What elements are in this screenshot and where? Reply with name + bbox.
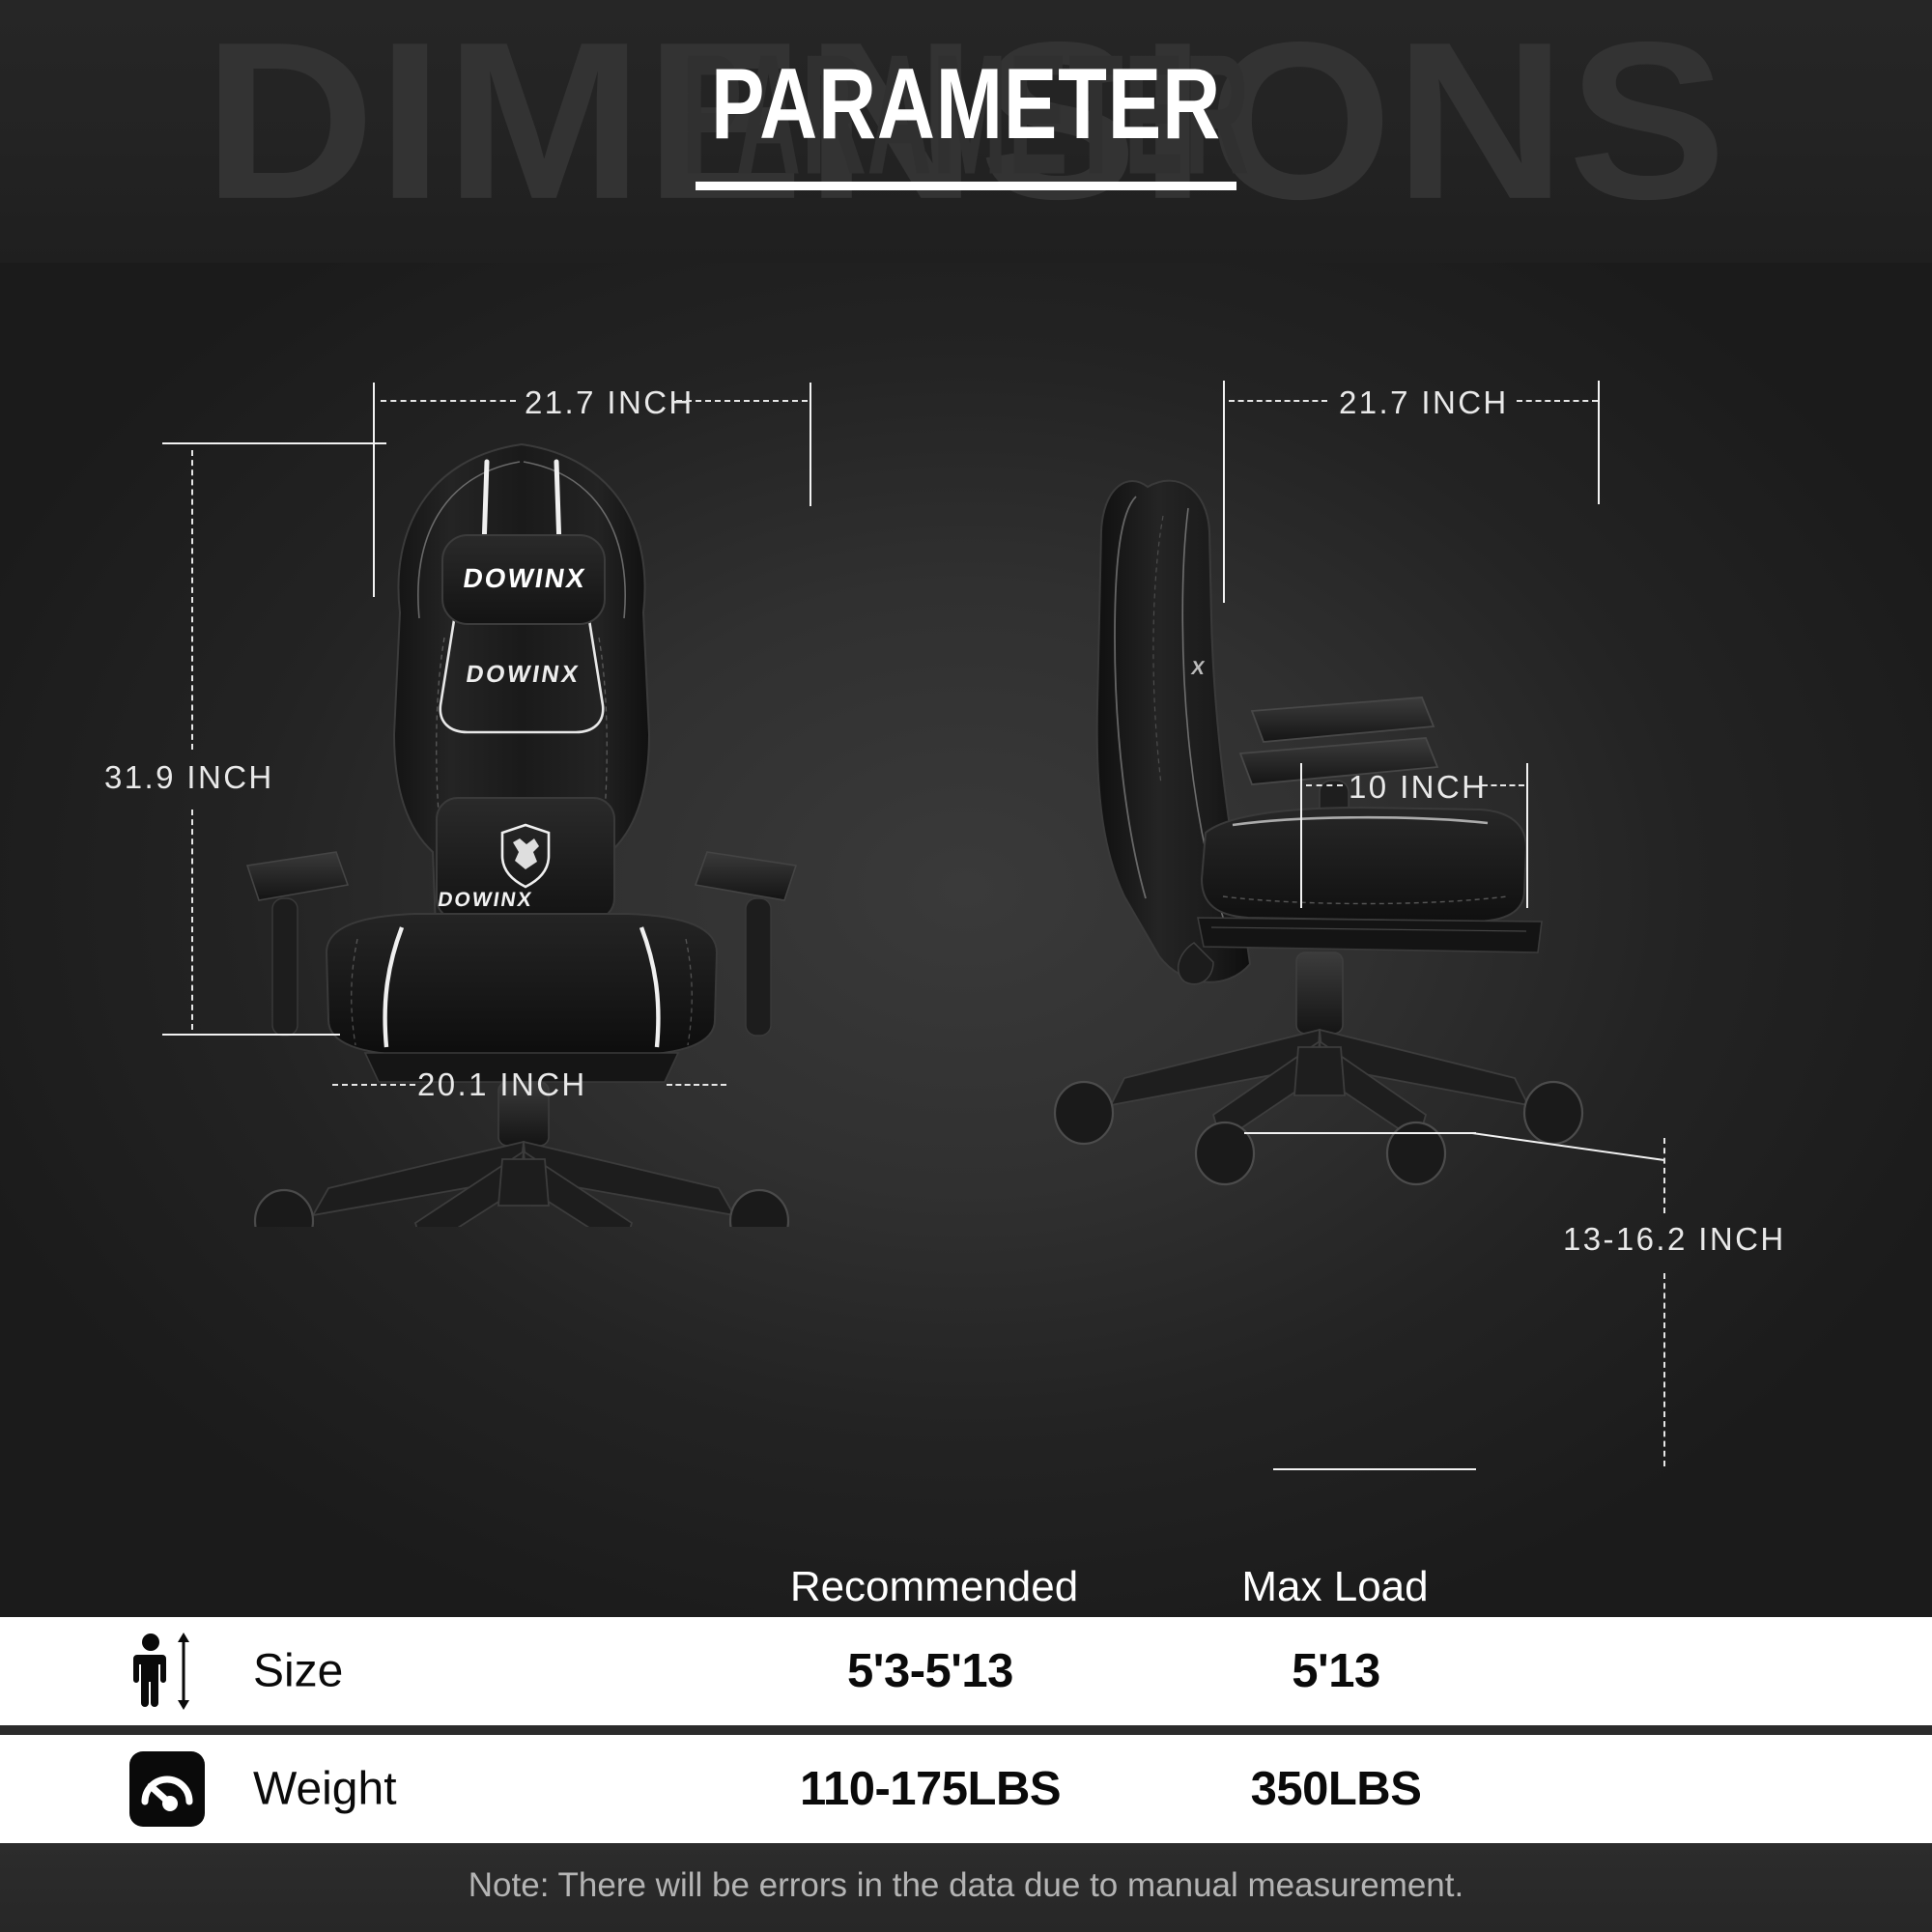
header-band: DIMENSIONS PARAMETER PARAMETER xyxy=(0,0,1932,263)
seat-height-dash-upper xyxy=(1663,1138,1665,1213)
front-width-tick-left xyxy=(373,383,375,597)
measurement-note: Note: There will be errors in the data d… xyxy=(469,1866,1463,1905)
seat-height-tick-top xyxy=(1244,1132,1476,1134)
seat-width-label: 20.1 INCH xyxy=(417,1066,587,1103)
side-depth-dash-left xyxy=(1229,400,1327,402)
lumbar-pillow: DOWINX xyxy=(437,798,614,920)
size-recommended-value: 5'3-5'13 xyxy=(847,1644,1013,1698)
title-underline xyxy=(696,182,1236,190)
table-row-size: Size 5'3-5'13 5'13 xyxy=(0,1617,1932,1725)
side-depth-label: 21.7 INCH xyxy=(1339,384,1509,421)
parameter-infographic: DIMENSIONS PARAMETER PARAMETER xyxy=(0,0,1932,1932)
seat-width-dash-right xyxy=(667,1084,726,1086)
page-title: PARAMETER xyxy=(711,54,1221,155)
chair-base-side xyxy=(1111,1030,1528,1142)
seat-height-tick-bottom xyxy=(1273,1468,1476,1470)
column-header-recommended: Recommended xyxy=(741,1563,1127,1611)
table-row-weight: Weight 110-175LBS 350LBS xyxy=(0,1735,1932,1843)
front-height-tick-bottom xyxy=(162,1034,340,1036)
seat-height-label: 13-16.2 INCH xyxy=(1563,1221,1786,1258)
front-height-tick-top xyxy=(162,442,386,444)
front-height-label: 31.9 INCH xyxy=(104,759,274,796)
gas-cylinder-side xyxy=(1296,952,1343,1034)
front-height-dash-lower xyxy=(191,810,193,1030)
row-label-weight: Weight xyxy=(253,1763,397,1816)
seat-width-dash-left xyxy=(332,1084,415,1086)
headrest-brand-text: DOWINX xyxy=(461,562,588,593)
svg-text:DOWINX: DOWINX xyxy=(437,889,535,911)
seat-height-dash-lower xyxy=(1663,1273,1665,1466)
headrest-pillow: DOWINX xyxy=(442,535,605,624)
front-width-tick-right xyxy=(810,383,811,506)
table-row-divider xyxy=(0,1725,1932,1735)
armrest-depth-tick-left xyxy=(1300,763,1302,908)
side-depth-dash-right xyxy=(1517,400,1598,402)
chair-base xyxy=(313,1142,734,1227)
side-depth-tick-right xyxy=(1598,381,1600,504)
side-depth-tick-left xyxy=(1223,381,1225,603)
column-header-max-load: Max Load xyxy=(1151,1563,1519,1611)
armrest-depth-tick-right xyxy=(1526,763,1528,908)
gaming-chair-front-view: DOWINX DOWINX DOWINX xyxy=(213,415,831,1227)
front-width-dash-left xyxy=(381,400,516,402)
weight-max-load-value: 350LBS xyxy=(1251,1762,1422,1816)
front-height-dash-upper xyxy=(191,450,193,750)
gaming-chair-side-view: X xyxy=(1043,415,1662,1227)
weight-recommended-value: 110-175LBS xyxy=(800,1762,1061,1816)
front-width-label: 21.7 INCH xyxy=(525,384,695,421)
seat-cushion xyxy=(327,914,717,1055)
backrest-brand-text: DOWINX xyxy=(464,661,582,688)
size-max-load-value: 5'13 xyxy=(1292,1644,1379,1698)
armrest-depth-dash-left xyxy=(1306,784,1343,786)
page-title-group: PARAMETER xyxy=(647,54,1285,190)
footrest-side xyxy=(1198,918,1542,952)
row-label-size: Size xyxy=(253,1645,343,1698)
person-height-icon xyxy=(126,1630,209,1713)
front-width-dash-right xyxy=(676,400,808,402)
seat-side xyxy=(1202,808,1526,922)
armrest-depth-label: 10 INCH xyxy=(1349,769,1487,806)
weight-gauge-icon xyxy=(126,1747,209,1831)
armrest-depth-dash-right xyxy=(1482,784,1524,786)
